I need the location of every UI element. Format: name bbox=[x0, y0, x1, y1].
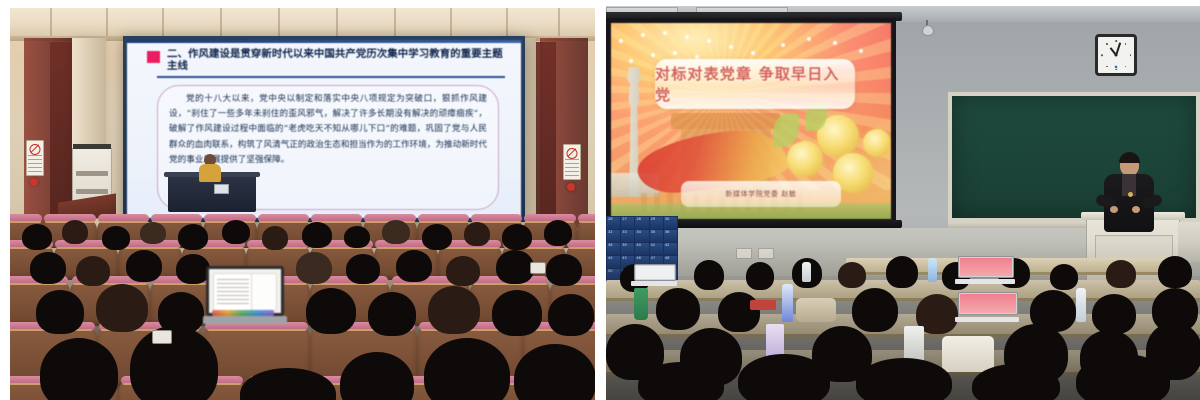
audience-head bbox=[222, 220, 250, 244]
slide-subtitle: 新媒体学院党委 赵敏 bbox=[725, 189, 796, 199]
student-head bbox=[1158, 256, 1192, 288]
audience-head bbox=[346, 254, 380, 284]
backpack bbox=[942, 336, 994, 372]
student-head bbox=[852, 288, 898, 332]
cabinet-top bbox=[73, 144, 111, 149]
laptop-base bbox=[955, 279, 1015, 284]
audience-head bbox=[396, 250, 432, 282]
pocket: 30 bbox=[664, 217, 677, 229]
audience-head bbox=[30, 252, 66, 284]
slide-top-line bbox=[127, 40, 521, 43]
audience-head bbox=[306, 288, 356, 334]
water-bottle bbox=[1076, 288, 1086, 322]
laptop-base bbox=[955, 317, 1019, 322]
laptop-side-pane bbox=[251, 273, 277, 311]
held-phone[interactable] bbox=[530, 262, 546, 274]
audience-head bbox=[140, 222, 166, 244]
laptop-lid bbox=[958, 256, 1014, 278]
student-head bbox=[718, 292, 760, 332]
laptop-lid bbox=[634, 264, 676, 281]
audience-head bbox=[544, 220, 572, 246]
audience-head bbox=[382, 220, 410, 244]
fire-alarm-button-left[interactable] bbox=[30, 178, 38, 186]
audience-head bbox=[76, 256, 110, 286]
notebook bbox=[750, 300, 776, 310]
no-smoking-icon bbox=[567, 148, 578, 159]
presentation-slide-right: 对标对表党章 争取早日入党 新媒体学院党委 赵敏 bbox=[611, 23, 891, 219]
audience-head bbox=[548, 294, 594, 336]
laptop-lid bbox=[206, 266, 284, 316]
lecturer-hair bbox=[1119, 152, 1140, 163]
speaker-at-podium-left bbox=[199, 154, 221, 180]
student-head bbox=[656, 288, 700, 330]
gate-roof bbox=[671, 113, 781, 129]
audience-head bbox=[302, 222, 332, 248]
cabinet-slot bbox=[76, 171, 108, 176]
laptop-document-window bbox=[213, 273, 253, 311]
audience-head bbox=[464, 222, 490, 246]
audience-head bbox=[422, 224, 452, 250]
student-laptop bbox=[958, 256, 1012, 284]
audience-head bbox=[62, 220, 88, 244]
pocket: 35 bbox=[650, 230, 663, 242]
audience-head bbox=[368, 292, 416, 336]
laptop-lid bbox=[958, 292, 1018, 315]
audience-head-front bbox=[40, 338, 118, 400]
student-head-front bbox=[856, 358, 952, 400]
fire-alarm-button-right[interactable] bbox=[567, 183, 575, 191]
pocket: 27 bbox=[621, 217, 634, 229]
left-photo-auditorium-lecture: 二、作风建设是贯穿新时代以来中国共产党历次集中学习教育的重要主题主线 党的十八大… bbox=[10, 8, 595, 400]
student-laptop bbox=[634, 264, 674, 286]
clock-center-pin bbox=[1115, 54, 1118, 57]
student-head bbox=[886, 256, 918, 288]
pocket: 36 bbox=[664, 230, 677, 242]
slide-title: 对标对表党章 争取早日入党 bbox=[655, 63, 855, 105]
pocket: 26 bbox=[607, 217, 620, 229]
audience-laptop-open bbox=[206, 266, 284, 330]
photo-collage: 二、作风建设是贯穿新时代以来中国共产党历次集中学习教育的重要主题主线 党的十八大… bbox=[0, 0, 1200, 400]
cabinet-slot bbox=[76, 189, 108, 194]
thermos-cup bbox=[634, 288, 648, 320]
slide-title-plate: 对标对表党章 争取早日入党 bbox=[655, 59, 855, 109]
student-head bbox=[1092, 294, 1136, 334]
slide-title-rule bbox=[157, 76, 505, 78]
clock-brand-logo: ◆ bbox=[1114, 64, 1117, 69]
backpack bbox=[796, 298, 836, 322]
podium-laptop bbox=[214, 184, 229, 194]
audience-head bbox=[176, 254, 210, 284]
audience-head bbox=[496, 250, 534, 284]
student-laptop bbox=[958, 292, 1016, 322]
student-head-front bbox=[972, 364, 1060, 400]
no-smoking-sign-left bbox=[26, 140, 44, 176]
slide-bullet-square-icon bbox=[147, 51, 160, 63]
audience-head bbox=[502, 224, 532, 250]
audience-head bbox=[428, 286, 480, 334]
audience-head bbox=[344, 226, 370, 248]
lecturer-hand-left bbox=[1110, 206, 1118, 213]
lapel-pin-icon bbox=[1128, 192, 1133, 197]
speaker-body bbox=[199, 164, 221, 182]
lecturer-hand-right bbox=[1132, 206, 1140, 213]
water-bottle bbox=[802, 262, 811, 282]
camera-dome bbox=[922, 25, 934, 36]
student-head bbox=[838, 262, 866, 288]
slide-title: 二、作风建设是贯穿新时代以来中国共产党历次集中学习教育的重要主题主线 bbox=[167, 48, 511, 72]
audience-head bbox=[22, 224, 52, 250]
laptop-base bbox=[203, 316, 287, 324]
student-head-front bbox=[738, 354, 830, 400]
pocket: 29 bbox=[650, 217, 663, 229]
pocket: 32 bbox=[607, 230, 620, 242]
audience-head bbox=[178, 224, 208, 250]
wall-clock: ◆ bbox=[1095, 34, 1137, 76]
student-head-front bbox=[1076, 354, 1170, 400]
ceiling-camera-icon bbox=[922, 20, 932, 34]
no-smoking-sign-right bbox=[563, 144, 581, 180]
audience-head bbox=[126, 250, 162, 282]
student-head bbox=[1106, 260, 1136, 288]
held-phone[interactable] bbox=[152, 330, 172, 344]
audience-head bbox=[96, 284, 148, 332]
student-head bbox=[1050, 264, 1078, 290]
laptop-screen bbox=[209, 269, 281, 313]
right-photo-classroom-lecture: ◆ bbox=[606, 6, 1200, 400]
lecturer-standing bbox=[1098, 154, 1160, 236]
sign-text-lines bbox=[565, 159, 579, 177]
audience-head-front bbox=[130, 326, 218, 400]
audience-head bbox=[262, 226, 288, 250]
pocket: 34 bbox=[635, 230, 648, 242]
laptop-base bbox=[631, 281, 677, 286]
pocket: 28 bbox=[635, 217, 648, 229]
audience-head bbox=[36, 290, 84, 334]
ceiling-panels bbox=[10, 8, 595, 38]
audience-head bbox=[102, 226, 130, 250]
audience-head bbox=[446, 256, 480, 286]
green-chalkboard bbox=[948, 92, 1200, 222]
water-bottle bbox=[928, 258, 937, 282]
audience-head bbox=[546, 254, 582, 286]
student-head-front bbox=[638, 362, 724, 400]
student-head bbox=[746, 262, 774, 290]
no-smoking-icon bbox=[30, 144, 41, 155]
water-bottle bbox=[782, 284, 793, 322]
student-head bbox=[694, 260, 724, 290]
audience-head-front bbox=[514, 344, 595, 400]
pocket: 33 bbox=[621, 230, 634, 242]
slide-subtitle-plate: 新媒体学院党委 赵敏 bbox=[681, 181, 841, 207]
audience-head bbox=[492, 290, 542, 336]
sign-text-lines bbox=[28, 155, 42, 173]
audience-head bbox=[296, 252, 332, 284]
